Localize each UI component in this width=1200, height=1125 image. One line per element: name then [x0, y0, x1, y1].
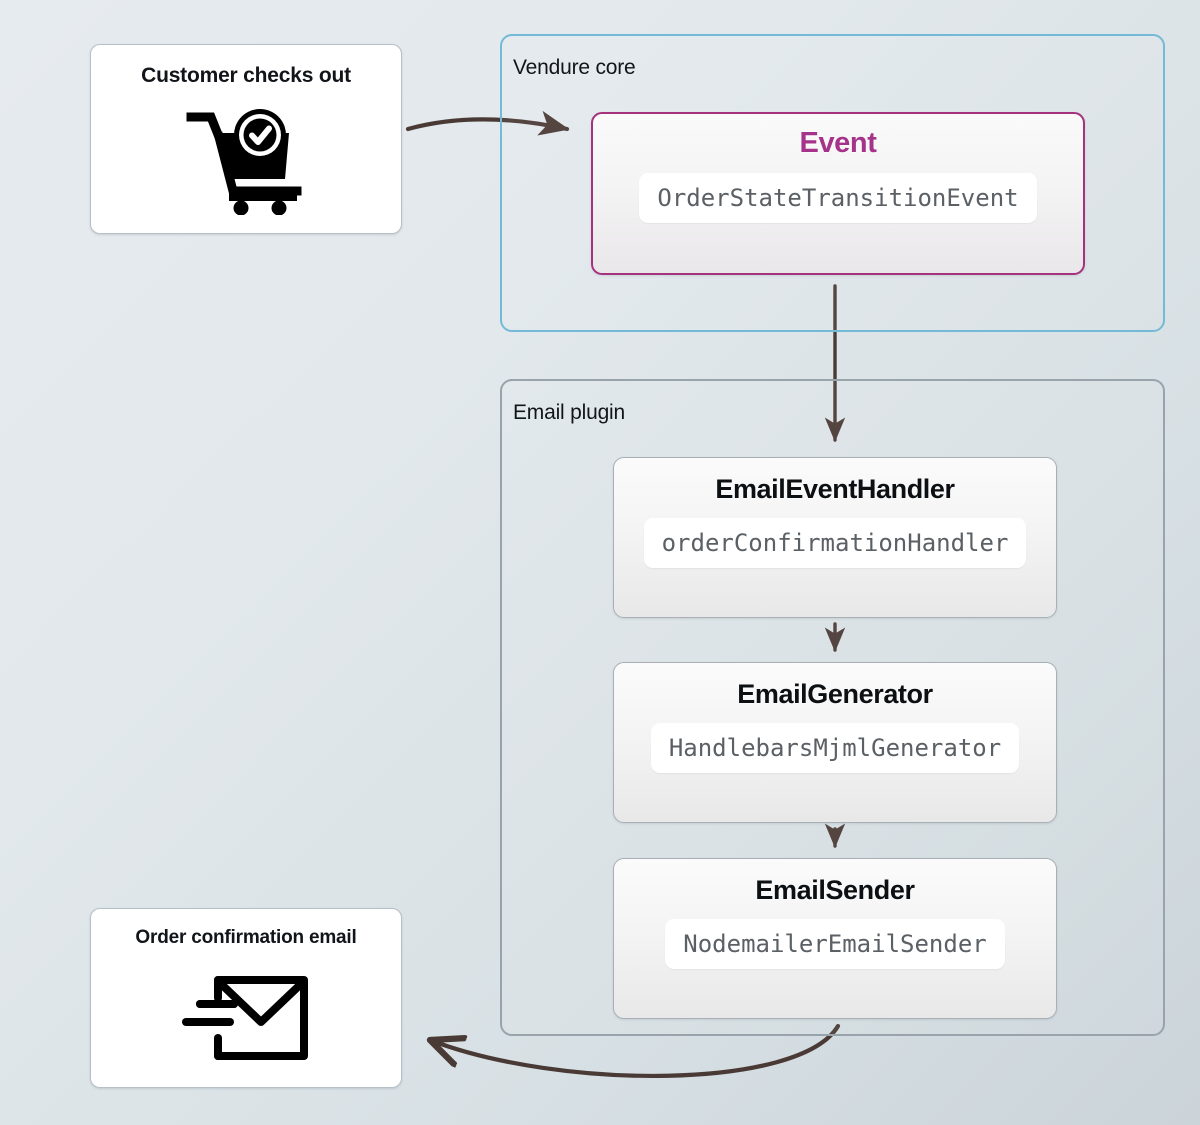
card-customer-checks-out[interactable]: Customer checks out	[90, 44, 402, 234]
node-event[interactable]: Event OrderStateTransitionEvent	[591, 112, 1085, 275]
flow-diagram: Vendure core Email plugin Event OrderSta…	[0, 0, 1200, 1125]
sending-envelope-icon	[91, 949, 401, 1087]
card-customer-checks-out-label: Customer checks out	[141, 64, 351, 88]
node-email-sender-implementation: NodemailerEmailSender	[665, 919, 1004, 969]
node-email-generator-title: EmailGenerator	[737, 679, 932, 710]
card-order-confirmation-email-label: Order confirmation email	[135, 927, 356, 949]
node-email-sender-title: EmailSender	[755, 875, 914, 906]
node-email-event-handler-title: EmailEventHandler	[715, 474, 954, 505]
group-email-plugin-label: Email plugin	[513, 401, 625, 425]
shopping-cart-check-icon	[91, 88, 401, 233]
node-event-title: Event	[800, 127, 877, 160]
node-event-implementation: OrderStateTransitionEvent	[639, 173, 1036, 223]
node-email-sender[interactable]: EmailSender NodemailerEmailSender	[613, 858, 1057, 1019]
node-email-generator-implementation: HandlebarsMjmlGenerator	[651, 723, 1019, 773]
node-email-event-handler-implementation: orderConfirmationHandler	[644, 518, 1027, 568]
node-email-event-handler[interactable]: EmailEventHandler orderConfirmationHandl…	[613, 457, 1057, 618]
card-order-confirmation-email[interactable]: Order confirmation email	[90, 908, 402, 1088]
node-email-generator[interactable]: EmailGenerator HandlebarsMjmlGenerator	[613, 662, 1057, 823]
group-vendure-core-label: Vendure core	[513, 56, 636, 80]
